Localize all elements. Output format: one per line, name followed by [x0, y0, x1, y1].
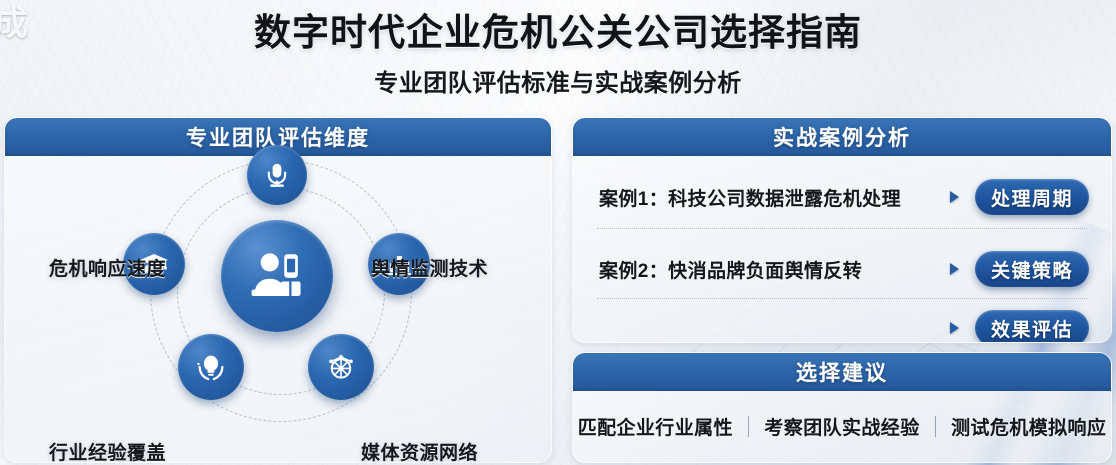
person-smartphone-icon	[248, 247, 306, 305]
case-row: 案例1：科技公司数据泄露危机处理 处理周期	[573, 166, 1111, 228]
panel-evaluation-dimensions: 专业团队评估维度	[4, 117, 552, 463]
microphone-icon	[262, 160, 292, 190]
hand-lightbulb-icon	[194, 350, 228, 384]
case-row: 效果评估	[573, 302, 1111, 343]
advice-list: 匹配企业行业属性 考察团队实战经验 测试危机模拟响应	[573, 391, 1111, 462]
hub-label-crisis-response: 危机响应速度	[49, 254, 166, 281]
panel-selection-advice: 选择建议 匹配企业行业属性 考察团队实战经验 测试危机模拟响应	[572, 352, 1112, 463]
hub-node-insight[interactable]	[178, 334, 244, 400]
panel-header-advice-label: 选择建议	[796, 357, 888, 387]
panel-header-advice: 选择建议	[573, 353, 1111, 391]
case-tag-label-1: 处理周期	[991, 184, 1073, 211]
panel-header-cases-label: 实战案例分析	[773, 122, 911, 152]
case-tag-label-3: 效果评估	[991, 315, 1073, 342]
hub-node-media-network[interactable]	[308, 334, 374, 400]
case-tag-button-3[interactable]: 效果评估	[975, 310, 1089, 343]
hub-center-node[interactable]	[221, 220, 333, 332]
triangle-marker-icon	[950, 263, 959, 275]
triangle-marker-icon	[950, 191, 959, 203]
advice-divider	[748, 416, 750, 437]
hub-label-industry-experience: 行业经验覆盖	[49, 438, 166, 463]
triangle-marker-icon	[950, 322, 959, 334]
hub-diagram: 危机响应速度 舆情监测技术 行业经验覆盖 媒体资源网络	[5, 156, 551, 462]
panel-case-studies: 实战案例分析 案例1：科技公司数据泄露危机处理 处理周期 案例2：快消品牌负面舆…	[572, 117, 1112, 343]
case-tag-button-1[interactable]: 处理周期	[975, 179, 1089, 215]
case-tag-button-2[interactable]: 关键策略	[975, 251, 1089, 287]
hub-label-media-network: 媒体资源网络	[361, 438, 478, 463]
case-tag-label-2: 关键策略	[991, 256, 1073, 283]
panel-body-cases: 案例1：科技公司数据泄露危机处理 处理周期 案例2：快消品牌负面舆情反转 关键策…	[573, 156, 1111, 342]
panel-header-cases: 实战案例分析	[573, 118, 1111, 156]
case-title-1: 案例1：科技公司数据泄露危机处理	[599, 184, 901, 211]
panel-body-evaluation: 危机响应速度 舆情监测技术 行业经验覆盖 媒体资源网络	[5, 156, 551, 462]
case-row: 案例2：快消品牌负面舆情反转 关键策略	[573, 238, 1111, 300]
title-block: 数字时代企业危机公关公司选择指南 专业团队评估标准与实战案例分析	[0, 2, 1116, 98]
network-globe-icon	[324, 350, 358, 384]
advice-item-3: 测试危机模拟响应	[951, 413, 1106, 440]
case-separator-1	[597, 228, 1087, 229]
case-title-2: 案例2：快消品牌负面舆情反转	[599, 256, 862, 283]
advice-item-1: 匹配企业行业属性	[578, 413, 733, 440]
page-title: 数字时代企业危机公关公司选择指南	[0, 2, 1116, 56]
page-subtitle: 专业团队评估标准与实战案例分析	[0, 63, 1116, 98]
advice-divider	[935, 416, 937, 437]
hub-label-monitoring-tech: 舆情监测技术	[371, 254, 488, 281]
panel-body-advice: 匹配企业行业属性 考察团队实战经验 测试危机模拟响应	[573, 391, 1111, 462]
hub-node-crisis-response[interactable]	[247, 145, 307, 205]
advice-item-2: 考察团队实战经验	[764, 413, 919, 440]
infographic-canvas: 成 数字时代企业危机公关公司选择指南 专业团队评估标准与实战案例分析 专业团队评…	[0, 0, 1116, 465]
